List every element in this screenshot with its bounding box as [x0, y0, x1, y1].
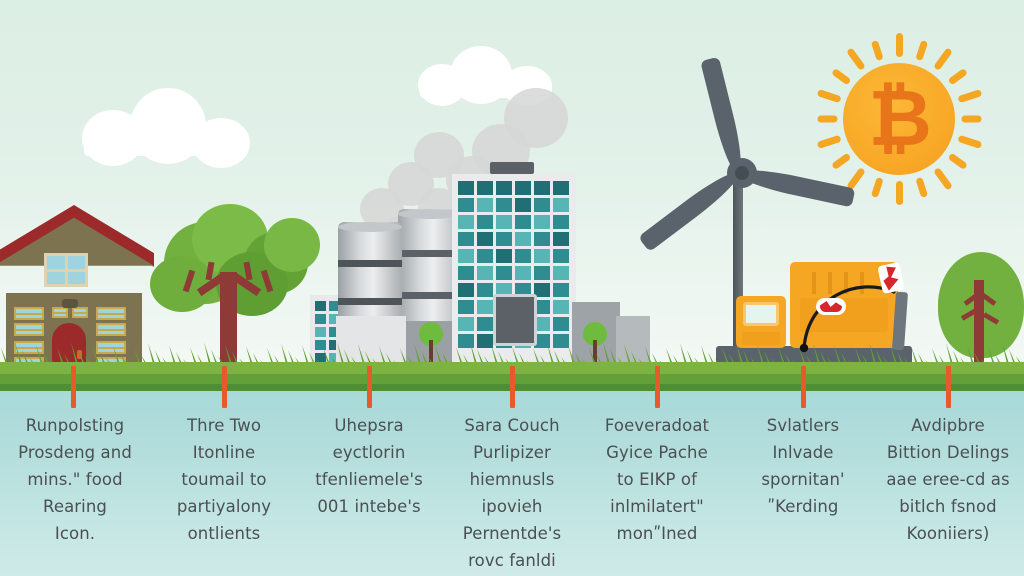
caption-tick-6	[801, 366, 806, 408]
sun-ray	[957, 135, 982, 149]
caption-line: Purlipizer	[439, 439, 585, 466]
sun-ray	[817, 116, 837, 123]
sun-ray	[896, 181, 903, 205]
caption-line: partiyalony	[151, 493, 297, 520]
caption-7: AvdipbreBittion Delingsaae eree-cd asbit…	[875, 412, 1021, 547]
caption-line: spornitan'	[730, 466, 876, 493]
caption-line: to EIKP of	[584, 466, 730, 493]
house-lamp	[62, 299, 78, 308]
turbine-hub-center	[735, 166, 749, 180]
sun-ray	[961, 116, 981, 123]
caption-tick-4	[510, 366, 515, 408]
caption-line: hiemnusls	[439, 466, 585, 493]
house-window	[72, 307, 88, 318]
house-window	[14, 307, 44, 320]
caption-line: ʺKerding	[730, 493, 876, 520]
caption-line: Bittion Delings	[875, 439, 1021, 466]
caption-line: Icon.	[2, 520, 148, 547]
caption-4: Sara CouchPurlipizerhiemnuslsipoviehPern…	[439, 412, 585, 574]
caption-tick-1	[71, 366, 76, 408]
caption-line: Runpolsting	[2, 412, 148, 439]
sun-ray	[896, 33, 903, 57]
caption-line: Avdipbre	[875, 412, 1021, 439]
house-window	[14, 323, 44, 336]
caption-line: Gyice Pache	[584, 439, 730, 466]
sun-ray	[816, 89, 841, 103]
caption-line: mins." food	[2, 466, 148, 493]
tree-foliage	[264, 218, 320, 272]
caption-line: Inlvade	[730, 439, 876, 466]
caption-5: FoeveradoatGyice Pacheto EIKP ofinlmilat…	[584, 412, 730, 547]
tower-band	[338, 260, 402, 267]
sun-ray	[870, 40, 883, 61]
tower-rooftop-unit	[490, 162, 534, 174]
sun-ray	[915, 40, 928, 61]
caption-6: SvlatlersInlvadespornitan'ʺKerding	[730, 412, 876, 520]
tower-rim	[338, 222, 402, 232]
infographic-scene: ₿	[0, 0, 1024, 576]
caption-line: Pernentde's	[439, 520, 585, 547]
caption-line: Svlatlers	[730, 412, 876, 439]
caption-3: Uhepsraeyctlorintfenliemele's001 intebe'…	[296, 412, 442, 520]
house-attic-window	[44, 253, 88, 287]
caption-line: Prosdeng and	[2, 439, 148, 466]
caption-line: inlmilatert"	[584, 493, 730, 520]
caption-line: Rearing	[2, 493, 148, 520]
caption-line: Thre Two	[151, 412, 297, 439]
house-window	[96, 323, 126, 336]
caption-line: Sara Couch	[439, 412, 585, 439]
caption-tick-3	[367, 366, 372, 408]
caption-line: rovc fanldi	[439, 547, 585, 574]
caption-line: eyctlorin	[296, 439, 442, 466]
cloud-left	[82, 88, 252, 156]
caption-1: RunpolstingProsdeng andmins." foodRearin…	[2, 412, 148, 547]
house-window	[96, 307, 126, 320]
caption-line: tfenliemele's	[296, 466, 442, 493]
caption-tick-7	[946, 366, 951, 408]
caption-line: monʺIned	[584, 520, 730, 547]
caption-tick-2	[222, 366, 227, 408]
caption-line: Itonline	[151, 439, 297, 466]
caption-line: Uhepsra	[296, 412, 442, 439]
caption-2: Thre TwoItonlinetoumail topartiyalonyont…	[151, 412, 297, 547]
tower-band	[338, 298, 402, 305]
sun-ray	[915, 177, 928, 198]
cooling-tower	[338, 222, 402, 324]
caption-line: Kooniiers)	[875, 520, 1021, 547]
house-window	[52, 307, 68, 318]
caption-line: Foeveradoat	[584, 412, 730, 439]
caption-line: toumail to	[151, 466, 297, 493]
sun-ray	[957, 89, 982, 103]
caption-line: ipovieh	[439, 493, 585, 520]
caption-line: bitlch fsnod	[875, 493, 1021, 520]
caption-tick-5	[655, 366, 660, 408]
caption-line: 001 intebe's	[296, 493, 442, 520]
caption-line: aae eree-cd as	[875, 466, 1021, 493]
caption-line: ontlients	[151, 520, 297, 547]
